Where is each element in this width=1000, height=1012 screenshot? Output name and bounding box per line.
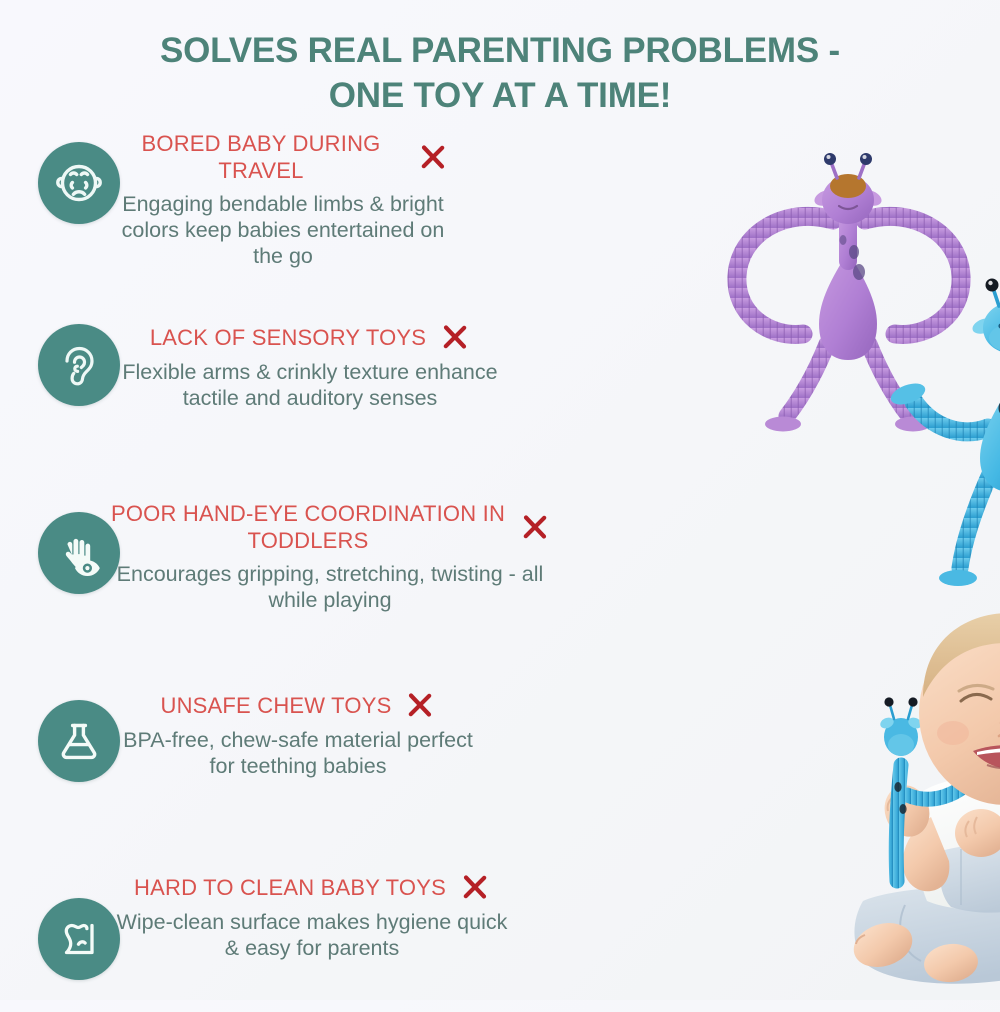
problem-label: LACK OF SENSORY TOYS bbox=[150, 324, 426, 351]
wipe-cloth-icon bbox=[38, 898, 120, 980]
solution-text: BPA-free, chew-safe material perfect for… bbox=[118, 727, 478, 779]
problem-row: UNSAFE CHEW TOYS bbox=[118, 690, 478, 720]
feature-item-unsafe-chew-toys: UNSAFE CHEW TOYS BPA-free, chew-safe mat… bbox=[0, 686, 560, 872]
problem-label: BORED BABY DURING TRAVEL bbox=[118, 130, 404, 184]
feature-list: BORED BABY DURING TRAVEL Engaging bendab… bbox=[0, 128, 560, 1012]
sad-baby-face-icon bbox=[38, 142, 120, 224]
ear-icon bbox=[38, 324, 120, 406]
problem-row: LACK OF SENSORY TOYS bbox=[120, 322, 500, 352]
baby-with-toy-photo bbox=[755, 605, 1000, 1000]
x-mark-icon bbox=[440, 322, 470, 352]
problem-label: HARD TO CLEAN BABY TOYS bbox=[134, 874, 446, 901]
solution-text: Flexible arms & crinkly texture enhance … bbox=[120, 359, 500, 411]
feature-item-hand-eye-coordination: POOR HAND-EYE COORDINATION IN TODDLERS E… bbox=[0, 500, 560, 686]
feature-item-bored-baby: BORED BABY DURING TRAVEL Engaging bendab… bbox=[0, 128, 560, 314]
x-mark-icon bbox=[405, 690, 435, 720]
problem-label: UNSAFE CHEW TOYS bbox=[161, 692, 392, 719]
x-mark-icon bbox=[460, 872, 490, 902]
feature-text-block: LACK OF SENSORY TOYS Flexible arms & cri… bbox=[120, 322, 500, 411]
problem-row: POOR HAND-EYE COORDINATION IN TODDLERS bbox=[110, 500, 550, 554]
hand-eye-icon bbox=[38, 512, 120, 594]
x-mark-icon bbox=[418, 142, 448, 172]
problem-row: BORED BABY DURING TRAVEL bbox=[118, 130, 448, 184]
feature-item-sensory-toys: LACK OF SENSORY TOYS Flexible arms & cri… bbox=[0, 314, 560, 500]
solution-text: Engaging bendable limbs & bright colors … bbox=[118, 191, 448, 269]
x-mark-icon bbox=[520, 512, 550, 542]
feature-text-block: BORED BABY DURING TRAVEL Engaging bendab… bbox=[118, 130, 448, 269]
product-imagery bbox=[560, 0, 1000, 1000]
feature-text-block: POOR HAND-EYE COORDINATION IN TODDLERS E… bbox=[110, 500, 550, 613]
problem-row: HARD TO CLEAN BABY TOYS bbox=[112, 872, 512, 902]
infographic-canvas: SOLVES REAL PARENTING PROBLEMS - ONE TOY… bbox=[0, 0, 1000, 1000]
feature-item-hard-to-clean: HARD TO CLEAN BABY TOYS Wipe-clean surfa… bbox=[0, 872, 560, 1012]
solution-text: Encourages gripping, stretching, twistin… bbox=[110, 561, 550, 613]
blue-giraffe-toy-image bbox=[880, 278, 1000, 608]
feature-text-block: UNSAFE CHEW TOYS BPA-free, chew-safe mat… bbox=[118, 690, 478, 779]
problem-label: POOR HAND-EYE COORDINATION IN TODDLERS bbox=[110, 500, 506, 554]
solution-text: Wipe-clean surface makes hygiene quick &… bbox=[112, 909, 512, 961]
flask-icon bbox=[38, 700, 120, 782]
feature-text-block: HARD TO CLEAN BABY TOYS Wipe-clean surfa… bbox=[112, 872, 512, 961]
